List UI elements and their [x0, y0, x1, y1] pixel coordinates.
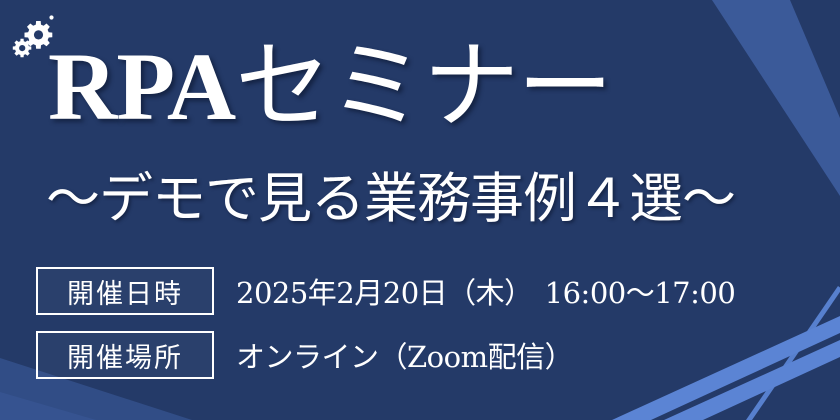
diagonal-wedge-secondary-icon [0, 392, 96, 420]
subtitle-trail: 〜 [682, 167, 735, 230]
event-venue: オンライン（Zoom配信） [236, 340, 573, 374]
page-subtitle: 〜デモで見る業務事例４選〜 [46, 172, 735, 226]
title-japanese: セミナー [235, 30, 611, 142]
event-time: 16:00〜17:00 [545, 276, 736, 310]
subtitle-highlighted: 業務事例４選 [364, 172, 682, 226]
title-latin: RPA [48, 33, 235, 140]
detail-row-datetime: 開催日時 2025年2月20日（木）16:00〜17:00 [36, 266, 735, 316]
detail-row-venue: 開催場所 オンライン（Zoom配信） [36, 330, 735, 380]
detail-value-datetime: 2025年2月20日（木）16:00〜17:00 [236, 270, 735, 312]
event-date: 2025年2月20日（木） [236, 276, 533, 310]
subtitle-lead: 〜デモで見る [46, 167, 364, 230]
detail-value-venue: オンライン（Zoom配信） [236, 334, 573, 376]
diagonal-lines-icon [746, 286, 840, 420]
page-title: RPAセミナー [48, 38, 611, 135]
event-details: 開催日時 2025年2月20日（木）16:00〜17:00 開催場所 オンライン… [36, 266, 735, 394]
detail-label-datetime: 開催日時 [36, 267, 214, 315]
seminar-banner: RPAセミナー 〜デモで見る業務事例４選〜 開催日時 2025年2月20日（木）… [0, 0, 840, 420]
detail-label-venue: 開催場所 [36, 331, 214, 379]
